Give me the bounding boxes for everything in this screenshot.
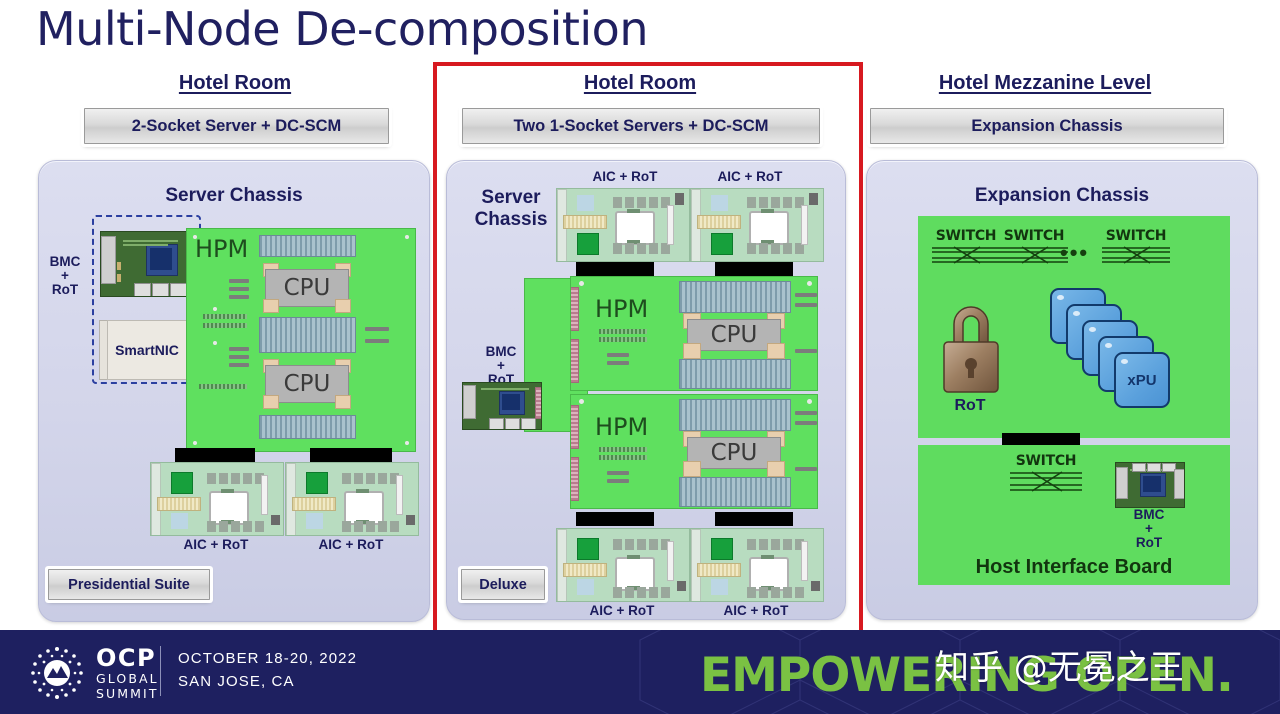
hpm-motherboard-mid-top: HPM CPU	[570, 276, 818, 391]
bmc-label-text-right: BMC	[1110, 508, 1188, 522]
rot-padlock-icon	[938, 298, 1004, 401]
column-3-cta-button[interactable]: Expansion Chassis	[870, 108, 1224, 144]
connector-mid-top-1	[576, 262, 654, 276]
bmc-rot-card-mid	[462, 382, 542, 430]
bmc-plus-text: +	[38, 269, 92, 283]
ocp-logo-line3: SUMMIT	[96, 688, 159, 701]
bmc-rot-label-right: BMC + RoT	[1110, 508, 1188, 551]
switch-icon-hib: SWITCH	[1006, 453, 1086, 491]
ocp-logo-line2: GLOBAL	[96, 673, 159, 686]
switch-ellipsis: •••	[1060, 240, 1089, 266]
host-interface-board-label: Host Interface Board	[918, 556, 1230, 579]
column-1-cta-button[interactable]: 2-Socket Server + DC-SCM	[84, 108, 389, 144]
connector-mid-top-2	[715, 262, 793, 276]
aic-rot-label-left-2: AIC + RoT	[285, 538, 417, 552]
column-3-header: Hotel Mezzanine Level	[900, 72, 1190, 95]
bmc-label-text-mid: BMC	[472, 345, 530, 359]
rot-label-text-right: RoT	[1110, 536, 1188, 550]
aic-rot-label-mid-bottom-2: AIC + RoT	[690, 604, 822, 618]
panel-2-title: Server Chassis	[461, 187, 561, 231]
footer-divider	[160, 646, 161, 696]
aic-rot-label-mid-top-1: AIC + RoT	[560, 170, 690, 184]
event-date: OCTOBER 18-20, 2022	[178, 650, 357, 667]
aic-rot-label-left-1: AIC + RoT	[150, 538, 282, 552]
page-title: Multi-Node De-composition	[36, 2, 648, 56]
xpu-card-1: xPU	[1114, 352, 1170, 408]
aic-card-left-1	[150, 462, 284, 536]
connector-left-2	[310, 448, 392, 462]
aic-card-mid-top-1	[556, 188, 690, 262]
switch-icon-3: SWITCH	[1098, 228, 1174, 266]
panel-2-title-line1: Server	[461, 187, 561, 209]
aic-rot-label-mid-bottom-1: AIC + RoT	[556, 604, 688, 618]
xpu-stack: xPU	[1050, 288, 1220, 408]
switch-icon-1: SWITCH	[928, 228, 1004, 266]
connector-mid-bottom-1	[576, 512, 654, 526]
smartnic-card-left: SmartNIC	[107, 320, 187, 380]
hpm-motherboard-mid-bottom: HPM CPU	[570, 394, 818, 509]
bmc-label-text: BMC	[38, 255, 92, 269]
column-2-cta-button[interactable]: Two 1-Socket Servers + DC-SCM	[462, 108, 820, 144]
aic-card-left-2	[285, 462, 419, 536]
aic-card-mid-bottom-1	[556, 528, 690, 602]
column-2-header: Hotel Room	[495, 72, 785, 95]
switch-glyph-3	[1098, 244, 1174, 266]
slide-root: Multi-Node De-composition Hotel Room 2-S…	[0, 0, 1280, 714]
event-city: SAN JOSE, CA	[178, 673, 295, 690]
panel-1-title: Server Chassis	[39, 185, 429, 207]
connector-left-1	[175, 448, 255, 462]
aic-card-mid-bottom-2	[690, 528, 824, 602]
panel-3-title: Expansion Chassis	[867, 185, 1257, 207]
switch-label-1: SWITCH	[928, 228, 1004, 244]
column-1-header: Hotel Room	[90, 72, 380, 95]
switch-label-hib: SWITCH	[1006, 453, 1086, 469]
aic-card-mid-top-2	[690, 188, 824, 262]
panel-2-title-line2: Chassis	[461, 209, 561, 231]
xpu-label: xPU	[1116, 354, 1168, 406]
hpm-label-mid-bottom: HPM	[595, 413, 648, 441]
aic-rot-label-mid-top-2: AIC + RoT	[685, 170, 815, 184]
hpm-label-mid-top: HPM	[595, 295, 648, 323]
bmc-rot-card-left	[100, 231, 192, 297]
bmc-rot-card-right	[1115, 462, 1185, 508]
ocp-logo-line1: OCP	[96, 646, 159, 670]
bmc-plus-text-right: +	[1110, 522, 1188, 536]
rot-label-right: RoT	[930, 398, 1010, 415]
switch-glyph-1	[928, 244, 1004, 266]
switch-glyph-hib	[1006, 469, 1086, 495]
rot-label-text: RoT	[38, 283, 92, 297]
ocp-wordmark: OCP GLOBAL SUMMIT	[96, 646, 159, 700]
hpm-motherboard-left: HPM CPU CPU	[186, 228, 416, 452]
watermark: 知乎 @无冕之王	[935, 640, 1184, 689]
ocp-logo-icon	[28, 646, 86, 700]
bmc-rot-label-left: BMC + RoT	[38, 255, 92, 298]
badge-deluxe[interactable]: Deluxe	[461, 569, 545, 600]
switch-label-3: SWITCH	[1098, 228, 1174, 244]
hpm-label-left: HPM	[195, 235, 248, 263]
bmc-plus-text-mid: +	[472, 359, 530, 373]
badge-presidential-suite[interactable]: Presidential Suite	[48, 569, 210, 600]
connector-mid-bottom-2	[715, 512, 793, 526]
